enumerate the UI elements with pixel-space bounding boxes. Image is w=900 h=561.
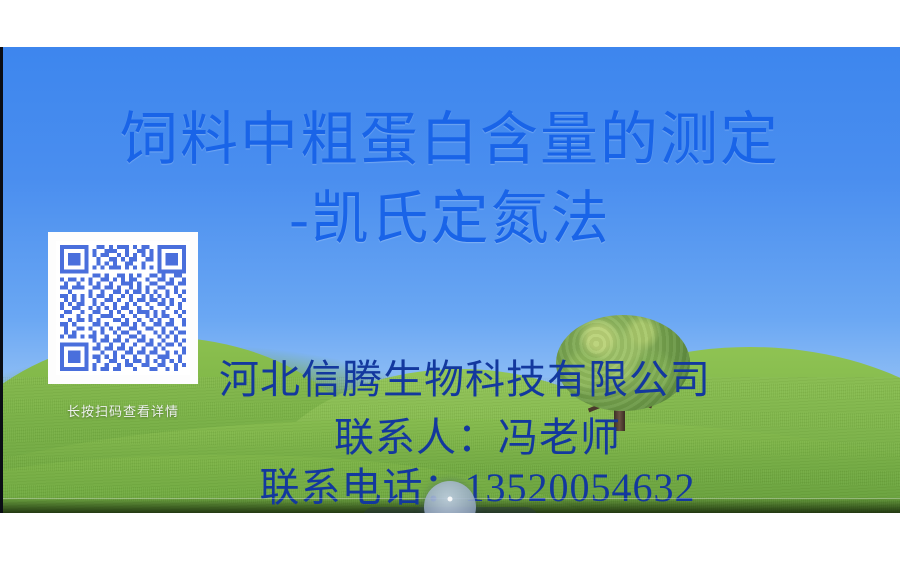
qr-caption: 长按扫码查看详情 — [48, 401, 198, 420]
page-root: 饲料中粗蛋白含量的测定 -凯氏定氮法 河北信腾生物科技有限公司 联系人：冯老师 … — [0, 0, 900, 561]
play-button-dot — [448, 496, 453, 501]
video-title-main: 饲料中粗蛋白含量的测定 — [0, 110, 900, 169]
qr-code-icon — [56, 240, 190, 376]
qr-code-block[interactable]: 长按扫码查看详情 — [48, 232, 198, 420]
qr-code-frame — [48, 232, 198, 384]
contact-person: 联系人：冯老师 — [0, 418, 900, 458]
video-player[interactable]: 饲料中粗蛋白含量的测定 -凯氏定氮法 河北信腾生物科技有限公司 联系人：冯老师 … — [0, 47, 900, 513]
player-left-edge — [0, 47, 3, 513]
